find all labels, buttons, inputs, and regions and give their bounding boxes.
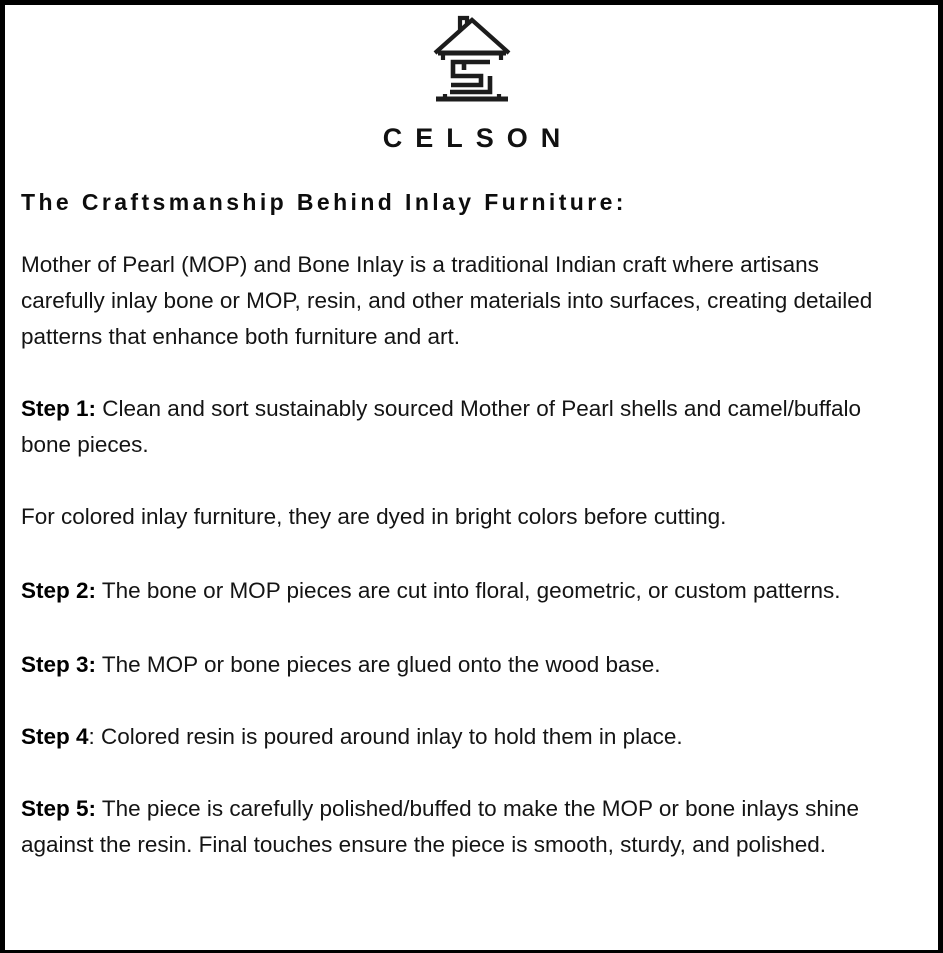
step-4-text: : Colored resin is poured around inlay t… — [89, 724, 683, 749]
step-5-text: The piece is carefully polished/buffed t… — [21, 796, 859, 857]
article-body: The Craftsmanship Behind Inlay Furniture… — [5, 188, 938, 863]
colored-inlay-note: For colored inlay furniture, they are dy… — [21, 499, 908, 535]
step-3-label: Step 3: — [21, 652, 96, 677]
step-3-paragraph: Step 3: The MOP or bone pieces are glued… — [21, 647, 908, 683]
step-3-text: The MOP or bone pieces are glued onto th… — [96, 652, 661, 677]
brand-wordmark: CELSON — [5, 125, 938, 152]
card-inner: CELSON The Craftsmanship Behind Inlay Fu… — [5, 5, 938, 950]
step-2-label: Step 2: — [21, 578, 96, 603]
page-title: The Craftsmanship Behind Inlay Furniture… — [21, 188, 908, 217]
step-1-label: Step 1: — [21, 396, 96, 421]
intro-paragraph: Mother of Pearl (MOP) and Bone Inlay is … — [21, 247, 908, 355]
step-1-paragraph: Step 1: Clean and sort sustainably sourc… — [21, 391, 908, 463]
step-4-paragraph: Step 4: Colored resin is poured around i… — [21, 719, 908, 755]
step-5-paragraph: Step 5: The piece is carefully polished/… — [21, 791, 908, 863]
brand-header: CELSON — [5, 5, 938, 152]
house-monogram-logo-icon — [433, 13, 511, 109]
step-2-paragraph: Step 2: The bone or MOP pieces are cut i… — [21, 573, 908, 609]
step-4-label: Step 4 — [21, 724, 89, 749]
inlay-furniture-infographic-card: CELSON The Craftsmanship Behind Inlay Fu… — [0, 0, 943, 953]
step-5-label: Step 5: — [21, 796, 96, 821]
step-1-text: Clean and sort sustainably sourced Mothe… — [21, 396, 861, 457]
step-2-text: The bone or MOP pieces are cut into flor… — [96, 578, 841, 603]
